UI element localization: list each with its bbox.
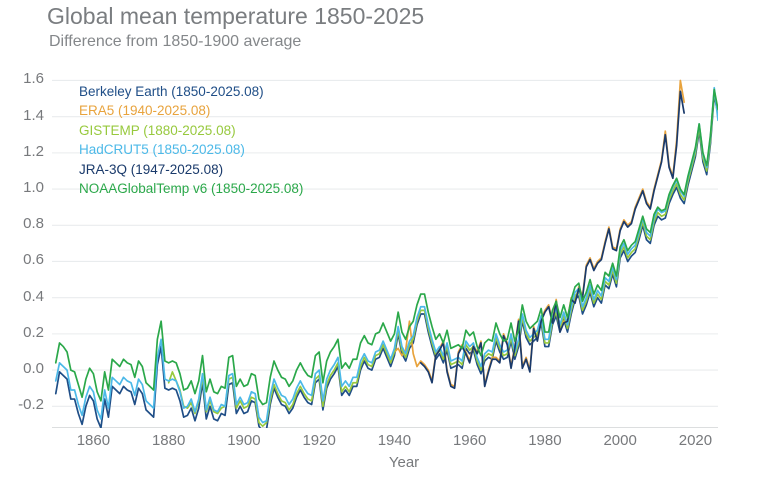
legend-item-hadcrut5[interactable]: HadCRUT5 (1850-2025.08) (79, 140, 303, 159)
x-axis-tick-label: 1920 (289, 432, 349, 449)
x-axis-tick-label: 2000 (590, 432, 650, 449)
y-axis-tick-label: 0.8 (8, 215, 44, 232)
y-axis-tick-label: 0.4 (8, 288, 44, 305)
chart-legend: Berkeley Earth (1850-2025.08)ERA5 (1940-… (79, 82, 303, 198)
y-axis-tick-label: 1.6 (8, 70, 44, 87)
y-axis-tick-label: 1.2 (8, 143, 44, 160)
x-axis-tick-label: 2020 (665, 432, 725, 449)
y-axis-tick-label: 1.4 (8, 107, 44, 124)
y-axis-tick-label: 0.6 (8, 251, 44, 268)
y-axis-tick-label: 0.0 (8, 360, 44, 377)
x-axis-tick-label: 1860 (63, 432, 123, 449)
x-axis-tick-label: 1980 (515, 432, 575, 449)
x-axis-tick-label: 1960 (440, 432, 500, 449)
x-axis-label: Year (20, 454, 768, 471)
y-axis-tick-label: -0.2 (8, 396, 44, 413)
legend-item-noaaglobaltemp-v6[interactable]: NOAAGlobalTemp v6 (1850-2025.08) (79, 179, 303, 198)
legend-item-era5[interactable]: ERA5 (1940-2025.08) (79, 101, 303, 120)
x-axis-tick-label: 1880 (139, 432, 199, 449)
chart-title: Global mean temperature 1850-2025 (47, 3, 424, 30)
legend-item-jra-3q[interactable]: JRA-3Q (1947-2025.08) (79, 160, 303, 179)
y-axis-tick-label: 1.0 (8, 179, 44, 196)
chart-figure: Global mean temperature 1850-2025 Differ… (0, 0, 768, 478)
x-axis-tick-label: 1940 (364, 432, 424, 449)
legend-item-gistemp[interactable]: GISTEMP (1880-2025.08) (79, 121, 303, 140)
x-axis-tick-label: 1900 (214, 432, 274, 449)
legend-item-berkeley-earth[interactable]: Berkeley Earth (1850-2025.08) (79, 82, 303, 101)
chart-subtitle: Difference from 1850-1900 average (49, 33, 301, 51)
y-axis-tick-label: 0.2 (8, 324, 44, 341)
